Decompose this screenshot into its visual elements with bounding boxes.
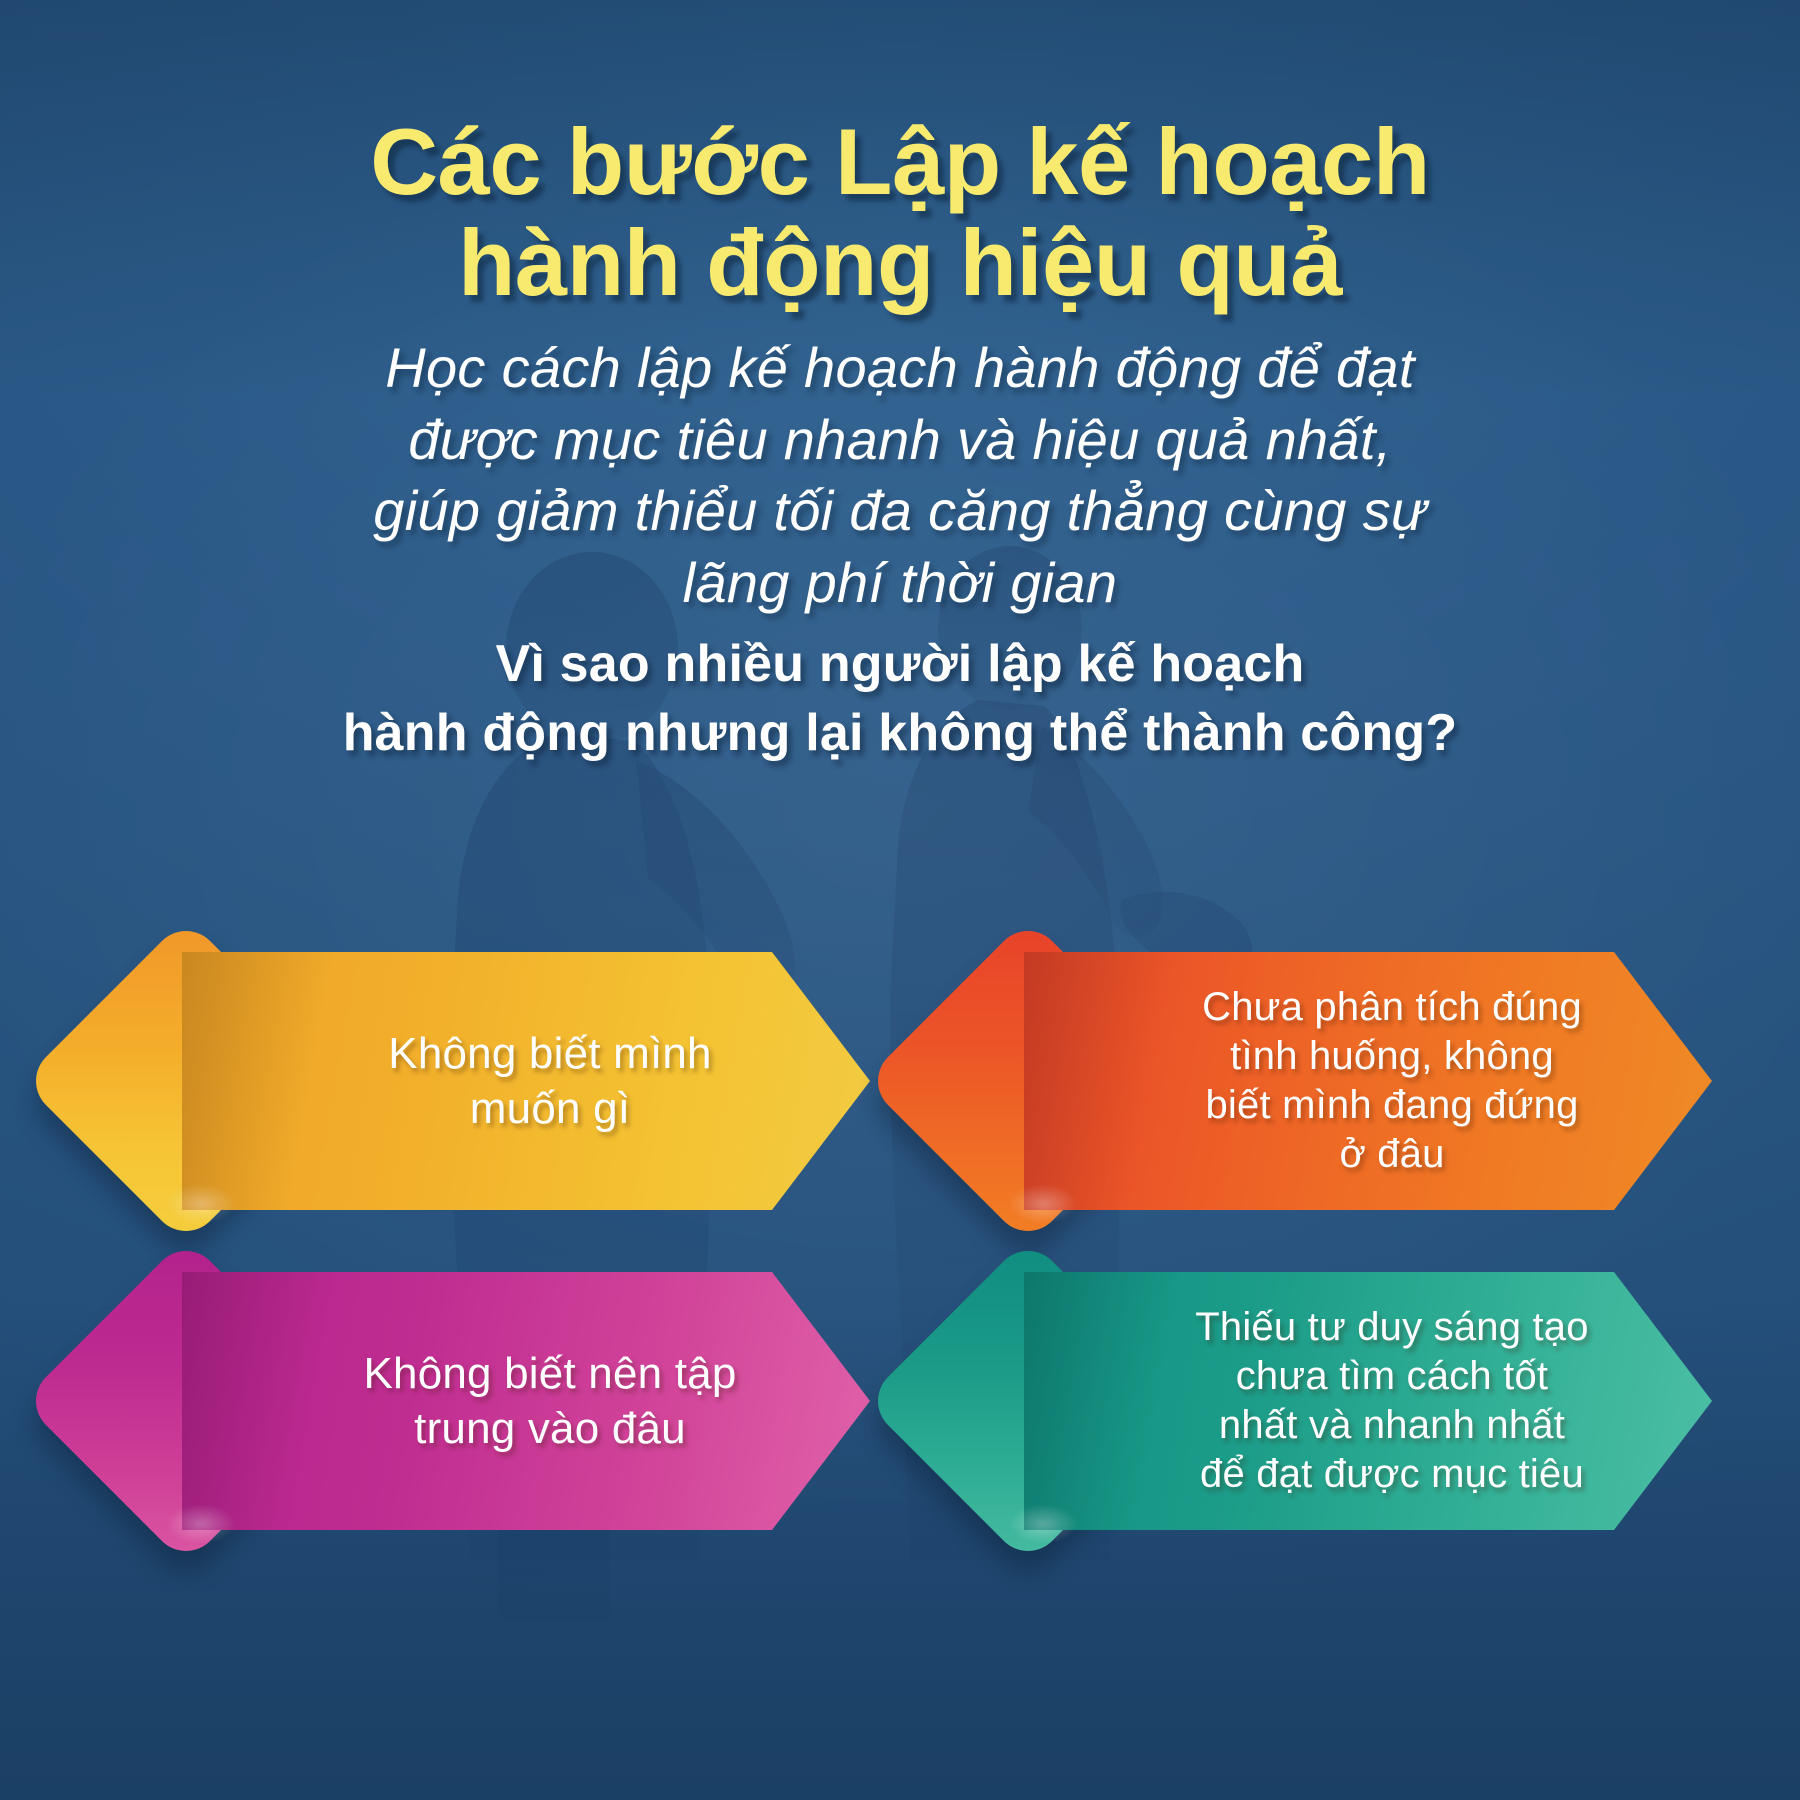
- reason-banner-2-label: Chưa phân tích đúng tình huống, không bi…: [1132, 952, 1652, 1210]
- subtitle-line-4: lãng phí thời gian: [0, 547, 1800, 619]
- page-title: Các bước Lập kế hoạch hành động hiệu quả: [0, 112, 1800, 313]
- subtitle-line-2: được mục tiêu nhanh và hiệu quả nhất,: [0, 404, 1800, 476]
- subtitle-line-3: giúp giảm thiểu tối đa căng thẳng cùng s…: [0, 475, 1800, 547]
- section-question-line-1: Vì sao nhiều người lập kế hoạch: [0, 630, 1800, 699]
- subtitle-line-1: Học cách lập kế hoạch hành động để đạt: [0, 332, 1800, 404]
- page-title-line-1: Các bước Lập kế hoạch: [0, 112, 1800, 213]
- reason-banner-grid: Không biết mình muốn gì Chưa phân tích đ…: [0, 952, 1800, 1652]
- section-question-line-2: hành động nhưng lại không thể thành công…: [0, 699, 1800, 768]
- infographic-poster: Các bước Lập kế hoạch hành động hiệu quả…: [0, 0, 1800, 1800]
- section-question: Vì sao nhiều người lập kế hoạch hành độn…: [0, 630, 1800, 767]
- subtitle: Học cách lập kế hoạch hành động để đạt đ…: [0, 332, 1800, 619]
- reason-banner-4-label: Thiếu tư duy sáng tạo chưa tìm cách tốt …: [1132, 1272, 1652, 1530]
- reason-banner-4[interactable]: Thiếu tư duy sáng tạo chưa tìm cách tốt …: [912, 1272, 1712, 1530]
- page-title-line-2: hành động hiệu quả: [0, 213, 1800, 314]
- reason-banner-1[interactable]: Không biết mình muốn gì: [70, 952, 870, 1210]
- reason-banner-3[interactable]: Không biết nên tập trung vào đâu: [70, 1272, 870, 1530]
- reason-banner-1-label: Không biết mình muốn gì: [290, 952, 810, 1210]
- reason-banner-3-label: Không biết nên tập trung vào đâu: [290, 1272, 810, 1530]
- reason-banner-2[interactable]: Chưa phân tích đúng tình huống, không bi…: [912, 952, 1712, 1210]
